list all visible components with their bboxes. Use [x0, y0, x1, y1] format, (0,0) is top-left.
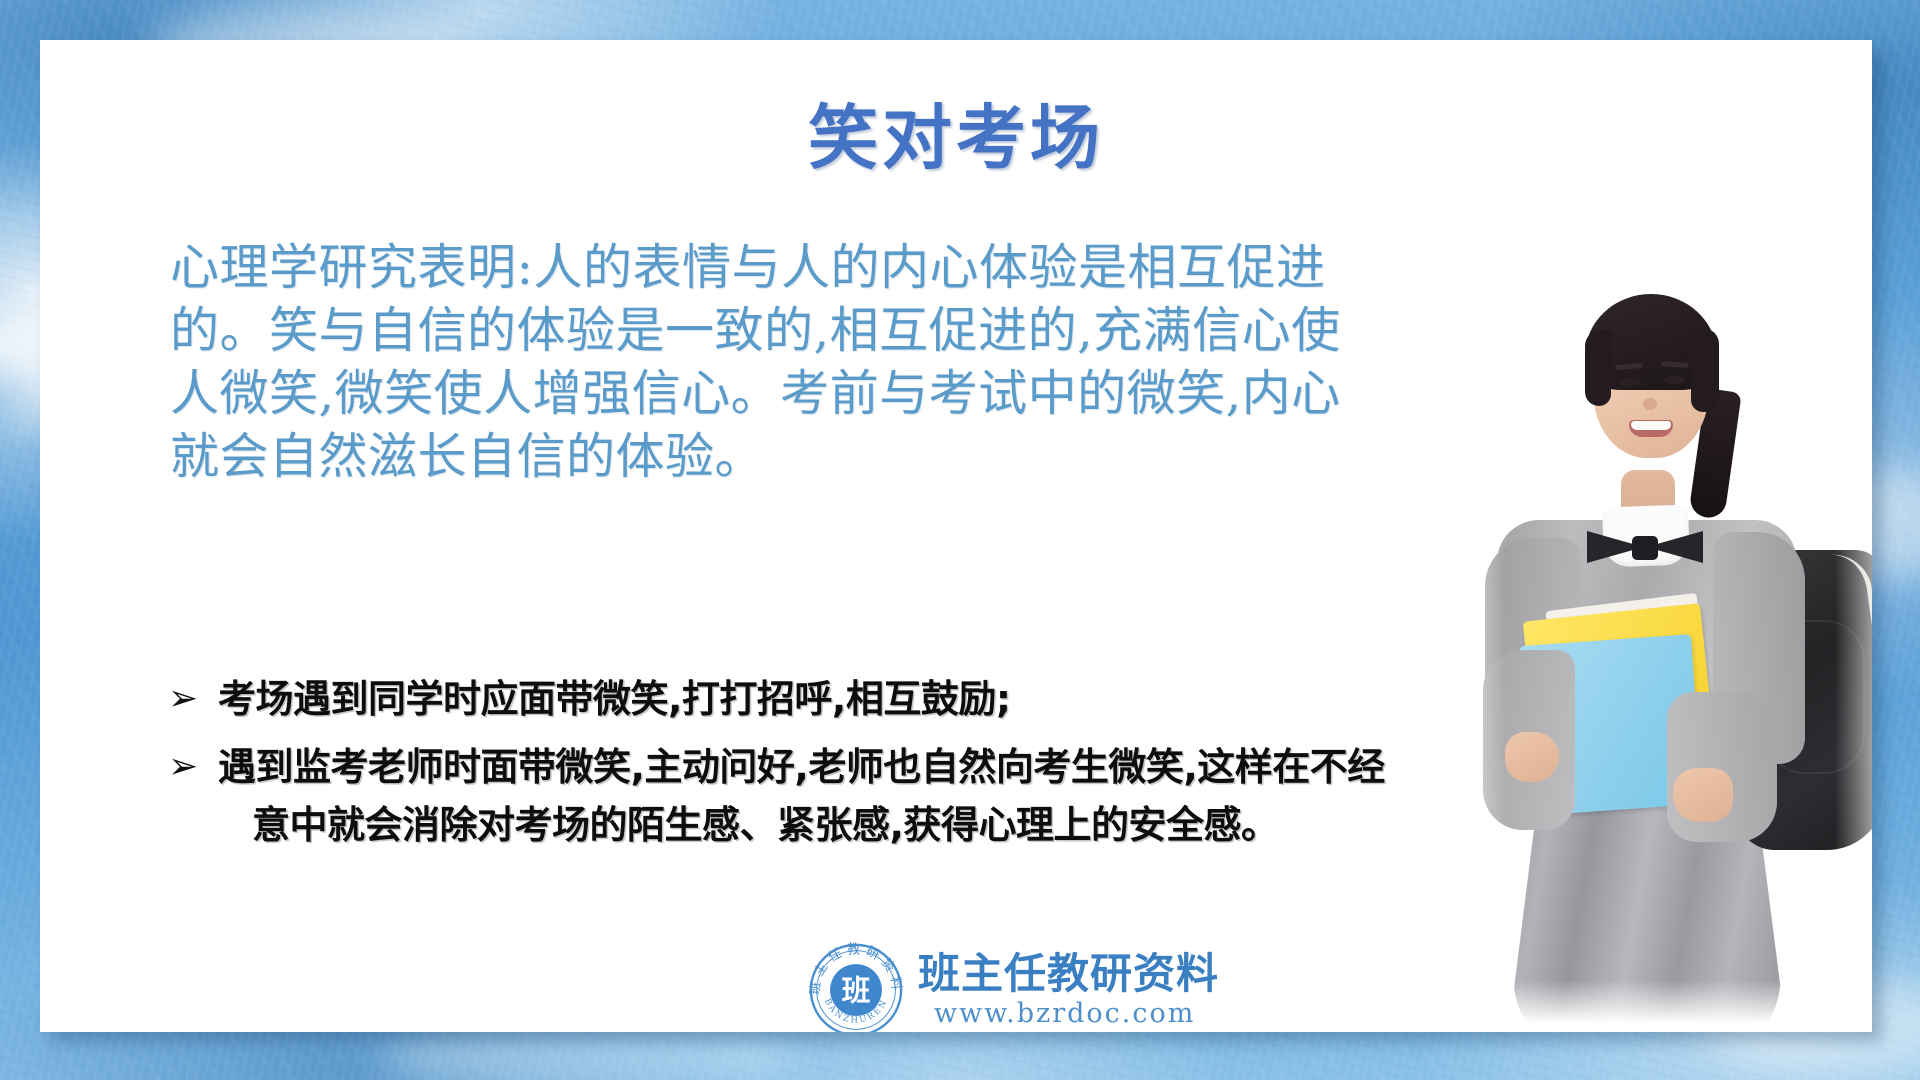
brand-name: 班主任教研资料 [918, 951, 1219, 997]
brand-url: www.bzrdoc.com [918, 998, 1219, 1030]
paragraph-line: 人微笑,微笑使人增强信心。考前与考试中的微笑,内心 [170, 362, 1310, 425]
bullet-line: 意中就会消除对考场的陌生感、紧张感,获得心理上的安全感。 [218, 796, 1488, 854]
hand-left [1505, 732, 1559, 782]
bullet-text: 遇到监考老师时面带微笑,主动问好,老师也自然向考生微笑,这样在不经 意中就会消除… [218, 738, 1488, 854]
paragraph-line: 的。笑与自信的体验是一致的,相互促进的,充满信心使 [170, 299, 1310, 362]
seal-logo-icon: 班主任教研资料 BANZHUREN 班 [808, 942, 904, 1032]
arrow-bullet-icon: ➢ [168, 670, 218, 728]
photo-edge-fade-right [1835, 220, 1872, 1032]
intro-paragraph: 心理学研究表明:人的表情与人的内心体验是相互促进 的。笑与自信的体验是一致的,相… [170, 236, 1310, 488]
bullet-line: 考场遇到同学时应面带微笑,打打招呼,相互鼓励; [218, 677, 1011, 721]
student-photo [1435, 220, 1872, 1032]
slide-root: 笑对考场 心理学研究表明:人的表情与人的内心体验是相互促进 的。笑与自信的体验是… [0, 0, 1920, 1080]
bullet-list: ➢ 考场遇到同学时应面带微笑,打打招呼,相互鼓励; ➢ 遇到监考老师时面带微笑,… [168, 670, 1488, 864]
page-number: 19 [1778, 1028, 1807, 1032]
paragraph-line: 就会自然滋长自信的体验。 [170, 425, 1310, 488]
svg-text:班: 班 [842, 974, 871, 1008]
list-item: ➢ 考场遇到同学时应面带微笑,打打招呼,相互鼓励; [168, 670, 1488, 728]
arrow-bullet-icon: ➢ [168, 738, 218, 796]
photo-edge-fade-left [1435, 220, 1505, 1032]
brand-text-block: 班主任教研资料 www.bzrdoc.com [918, 951, 1219, 1030]
teeth [1631, 421, 1671, 430]
brand-watermark: 班主任教研资料 BANZHUREN 班 班主任教研资料 www.bzrdoc.c… [808, 942, 1219, 1032]
hand-right [1673, 768, 1733, 822]
hair-side-left [1585, 330, 1611, 406]
arm-right [1667, 692, 1777, 842]
bullet-line: 遇到监考老师时面带微笑,主动问好,老师也自然向考生微笑,这样在不经 [218, 745, 1385, 789]
slide-card: 笑对考场 心理学研究表明:人的表情与人的内心体验是相互促进 的。笑与自信的体验是… [40, 40, 1872, 1032]
nose [1643, 398, 1657, 410]
eye-left [1619, 378, 1641, 386]
slide-title: 笑对考场 [40, 82, 1872, 183]
bow-tie-knot [1632, 536, 1658, 560]
eye-right [1663, 376, 1685, 384]
paragraph-line: 心理学研究表明:人的表情与人的内心体验是相互促进 [170, 236, 1310, 299]
bullet-text: 考场遇到同学时应面带微笑,打打招呼,相互鼓励; [218, 670, 1488, 728]
photo-edge-fade-bottom [1435, 980, 1872, 1032]
list-item: ➢ 遇到监考老师时面带微笑,主动问好,老师也自然向考生微笑,这样在不经 意中就会… [168, 738, 1488, 854]
hair-side-right [1691, 328, 1719, 412]
